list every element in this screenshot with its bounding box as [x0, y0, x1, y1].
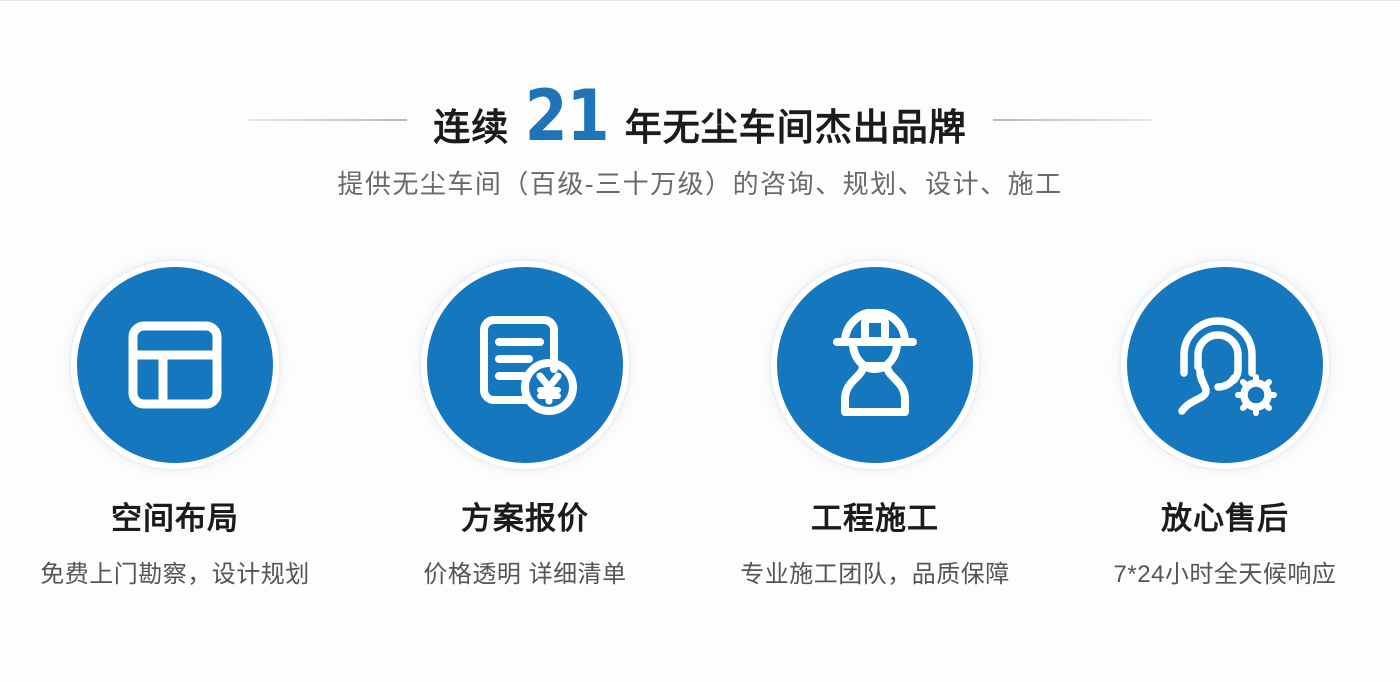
banner-subtitle: 提供无尘车间（百级-三十万级）的咨询、规划、设计、施工 — [0, 164, 1400, 201]
feature-desc: 7*24小时全天候响应 — [1114, 554, 1337, 589]
icon-halo — [1119, 259, 1331, 471]
feature-title: 方案报价 — [461, 493, 589, 538]
icon-halo — [769, 259, 981, 471]
feature-desc: 免费上门勘察，设计规划 — [40, 554, 310, 589]
icon-halo — [69, 259, 281, 471]
layout-grid-icon — [123, 313, 227, 417]
headline-text: 连续 21 年无尘车间杰出品牌 — [433, 89, 966, 151]
decorative-rule-left — [247, 119, 407, 121]
feature-list: 空间布局 免费上门勘察，设计规划 — [0, 259, 1400, 589]
decorative-rule-right — [993, 119, 1153, 121]
feature-item-plan-quote[interactable]: 方案报价 价格透明 详细清单 — [350, 259, 700, 589]
headline-suffix: 年无尘车间杰出品牌 — [625, 97, 967, 151]
feature-item-after-sales[interactable]: 放心售后 7*24小时全天候响应 — [1050, 259, 1400, 589]
feature-item-construction[interactable]: 工程施工 专业施工团队，品质保障 — [700, 259, 1050, 589]
headline-number: 21 — [525, 89, 609, 144]
promo-banner: 连续 21 年无尘车间杰出品牌 提供无尘车间（百级-三十万级）的咨询、规划、设计… — [0, 0, 1400, 682]
icon-circle — [427, 267, 623, 463]
feature-item-space-layout[interactable]: 空间布局 免费上门勘察，设计规划 — [0, 259, 350, 589]
headline-block: 连续 21 年无尘车间杰出品牌 — [0, 89, 1400, 151]
document-yen-quote-icon — [471, 311, 579, 419]
construction-worker-helmet-icon — [823, 309, 927, 421]
headline-prefix: 连续 — [433, 97, 509, 151]
icon-circle — [777, 267, 973, 463]
feature-title: 放心售后 — [1161, 493, 1289, 538]
feature-desc: 专业施工团队，品质保障 — [740, 554, 1010, 589]
feature-title: 工程施工 — [811, 493, 939, 538]
icon-circle — [1127, 267, 1323, 463]
feature-title: 空间布局 — [111, 493, 239, 538]
icon-halo — [419, 259, 631, 471]
icon-circle — [77, 267, 273, 463]
headset-support-gear-icon — [1170, 311, 1280, 419]
feature-desc: 价格透明 详细清单 — [423, 554, 626, 589]
